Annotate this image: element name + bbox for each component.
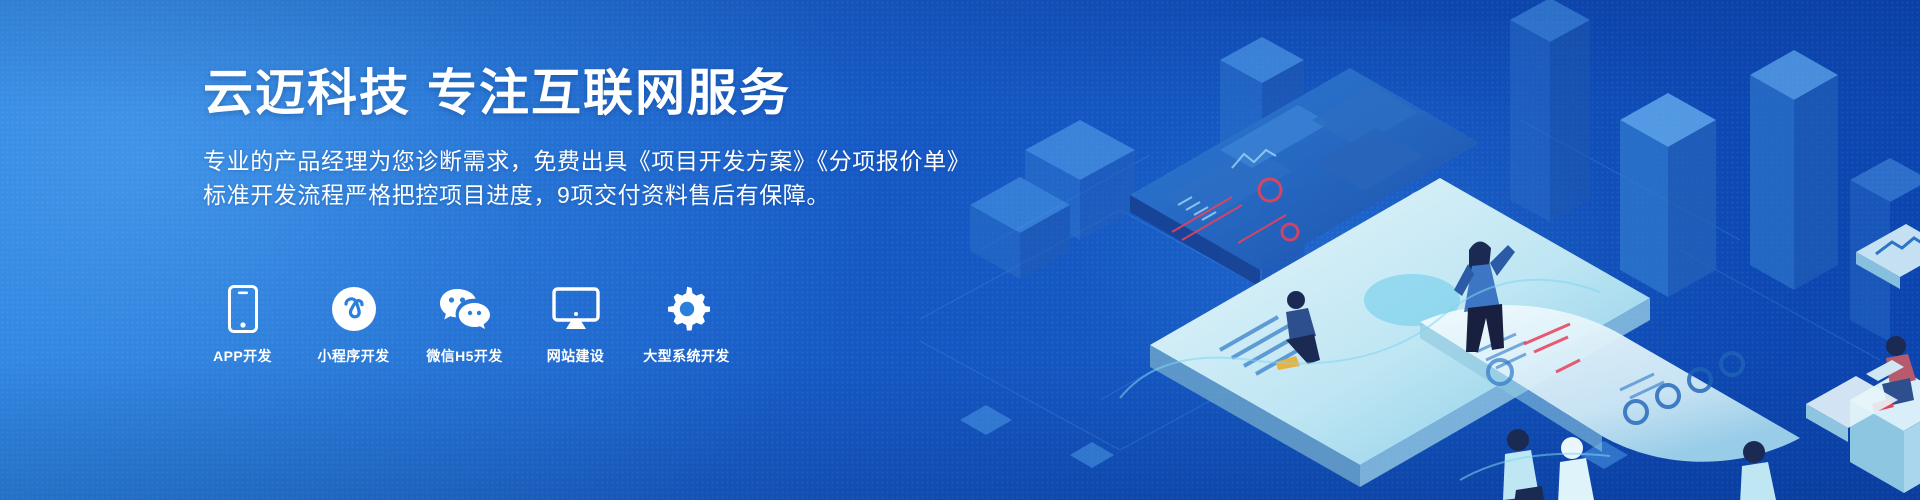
subtitle-line-2: 标准开发流程严格把控项目进度，9项交付资料售后有保障。 [203,178,903,212]
service-item-app[interactable]: APP开发 [200,283,285,366]
subtitle-line-1: 专业的产品经理为您诊断需求，免费出具《项目开发方案》《分项报价单》 [203,144,903,178]
service-label: APP开发 [213,346,272,366]
headline-tagline: 专注互联网服务 [427,65,791,121]
gear-icon [664,283,710,335]
service-list: APP开发 小程序开发 微信 [200,283,729,366]
service-label: 小程序开发 [318,346,390,366]
mini-program-icon [331,283,377,335]
banner-copy: 云迈科技专注互联网服务 专业的产品经理为您诊断需求，免费出具《项目开发方案》《分… [203,66,903,212]
mobile-phone-icon [228,283,258,335]
service-item-mini-program[interactable]: 小程序开发 [311,283,396,366]
page-title: 云迈科技专注互联网服务 [203,66,903,121]
headline-brand: 云迈科技 [203,65,411,121]
service-item-website[interactable]: 网站建设 [533,283,618,366]
service-label: 大型系统开发 [643,346,729,366]
promo-banner: 云迈科技专注互联网服务 专业的产品经理为您诊断需求，免费出具《项目开发方案》《分… [0,0,1920,500]
service-item-wechat-h5[interactable]: 微信H5开发 [422,283,507,366]
subtitle-block: 专业的产品经理为您诊断需求，免费出具《项目开发方案》《分项报价单》 标准开发流程… [203,144,903,212]
isometric-tech-illustration [920,0,1920,500]
monitor-icon [552,283,600,335]
service-label: 网站建设 [547,346,605,366]
service-label: 微信H5开发 [426,346,502,366]
wechat-icon [439,283,491,335]
service-item-large-system[interactable]: 大型系统开发 [644,283,729,366]
